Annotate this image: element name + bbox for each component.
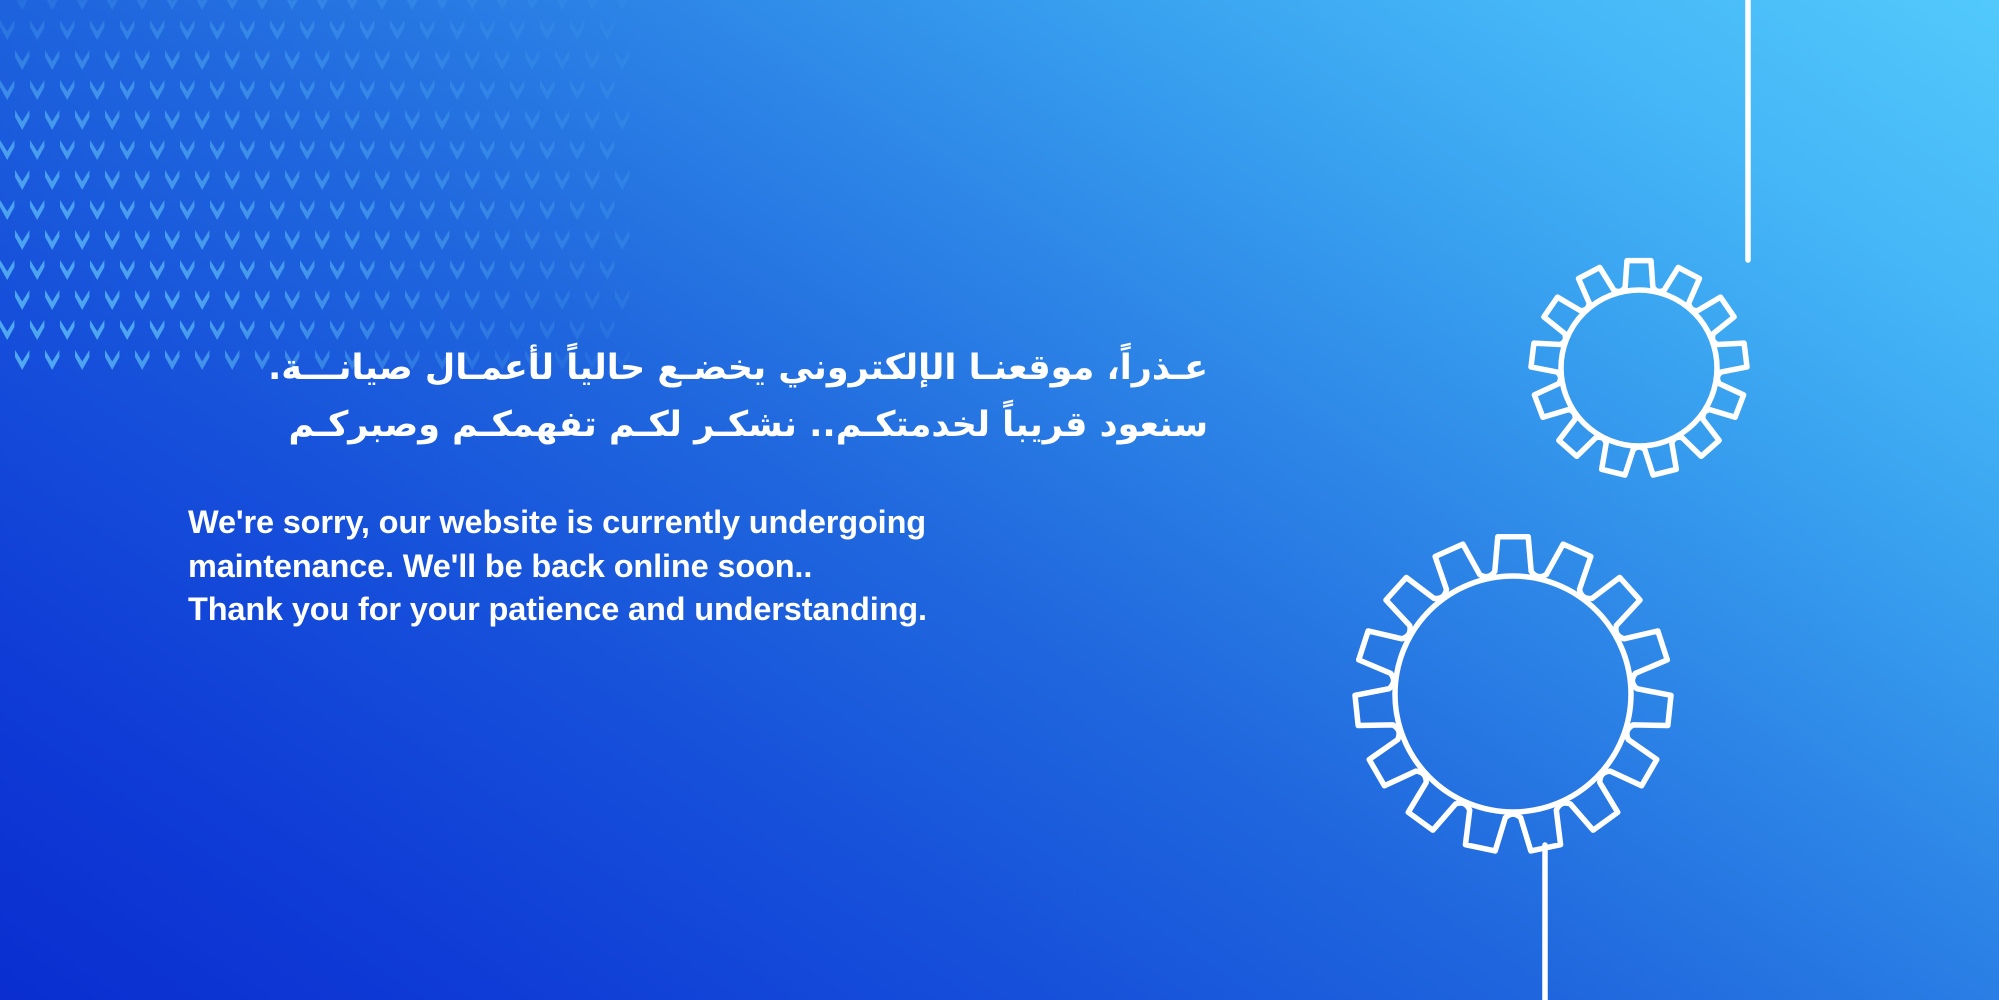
english-line-1: We're sorry, our website is currently un… <box>188 501 1208 544</box>
gear-small-icon <box>1531 261 1747 475</box>
arabic-message: عـذراً، موقعنـا الإلكتروني يخضـع حالياً … <box>188 340 1208 453</box>
gear-small-inner-circle <box>1561 290 1717 446</box>
arabic-line-1: عـذراً، موقعنـا الإلكتروني يخضـع حالياً … <box>188 340 1208 397</box>
gear-large-inner-circle <box>1395 576 1631 812</box>
maintenance-page: عـذراً، موقعنـا الإلكتروني يخضـع حالياً … <box>0 0 1999 1000</box>
maintenance-message: عـذراً، موقعنـا الإلكتروني يخضـع حالياً … <box>188 340 1208 632</box>
gear-large-icon <box>1355 537 1671 851</box>
english-message: We're sorry, our website is currently un… <box>188 501 1208 631</box>
arabic-line-2: سنعود قريباً لخدمتكـم.. نشكـر لكـم تفهمك… <box>188 397 1208 454</box>
gear-decoration-group <box>1179 0 1999 1000</box>
english-line-3: Thank you for your patience and understa… <box>188 588 1208 631</box>
english-line-2: maintenance. We'll be back online soon.. <box>188 545 1208 588</box>
